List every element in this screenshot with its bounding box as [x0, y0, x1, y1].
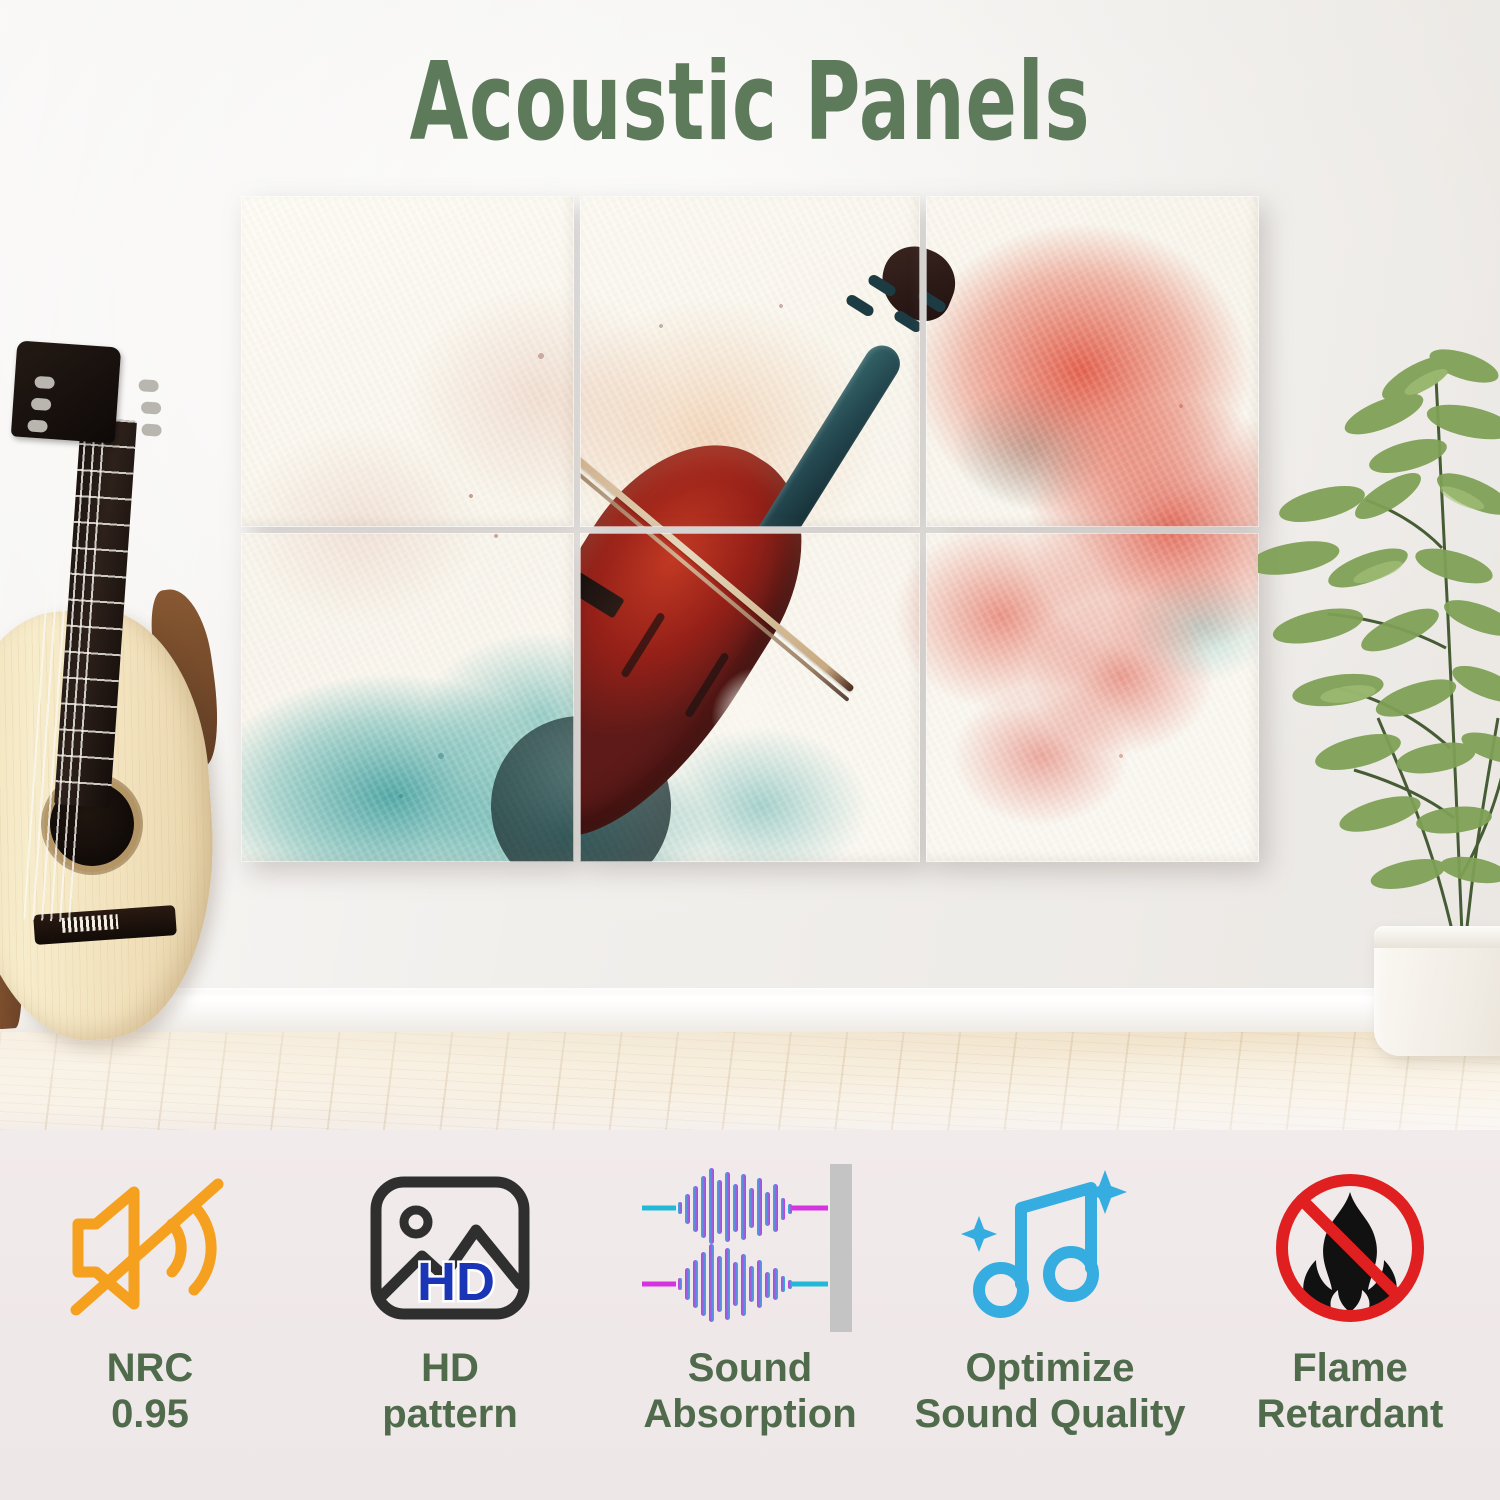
canvas-panel	[926, 196, 1259, 527]
feature-bar: NRC 0.95 HD HD pattern	[0, 1130, 1500, 1500]
tuning-peg	[138, 379, 159, 392]
music-note-sparkle-icon	[955, 1164, 1145, 1332]
feature-item-hd-pattern: HD HD pattern	[300, 1130, 600, 1437]
canvas-panel	[241, 533, 574, 862]
canvas-panel-set	[241, 196, 1259, 868]
feature-item-flame-retardant: Flame Retardant	[1200, 1130, 1500, 1437]
sound-absorption-waveform-icon	[640, 1164, 860, 1332]
feature-label: HD pattern	[382, 1346, 518, 1437]
hd-badge-text: HD	[417, 1252, 495, 1312]
product-listing-image: Acoustic Panels NRC 0.95	[0, 0, 1500, 1500]
tuning-peg	[27, 419, 48, 432]
feature-label: Sound Absorption	[643, 1346, 856, 1437]
guitar-headstock	[11, 340, 121, 443]
tuning-peg	[141, 423, 162, 436]
feature-label: NRC 0.95	[107, 1346, 194, 1437]
feature-item-optimize-sound: Optimize Sound Quality	[900, 1130, 1200, 1437]
canvas-panel	[580, 196, 920, 527]
tuning-peg	[31, 398, 52, 411]
feature-item-nrc: NRC 0.95	[0, 1130, 300, 1437]
room-scene	[0, 0, 1500, 1130]
tuning-peg	[141, 401, 162, 414]
muted-speaker-icon	[60, 1164, 240, 1332]
feature-label: Optimize Sound Quality	[914, 1346, 1185, 1437]
feature-item-sound-absorption: Sound Absorption	[600, 1130, 900, 1437]
acoustic-guitar	[0, 330, 280, 1100]
canvas-panel	[241, 196, 574, 527]
tuning-peg	[34, 376, 55, 389]
canvas-panel	[580, 533, 920, 862]
no-flame-icon	[1260, 1164, 1440, 1332]
absorber-wall	[830, 1164, 852, 1332]
hd-image-icon: HD	[360, 1164, 540, 1332]
plant-pot	[1374, 926, 1500, 1056]
canvas-panel	[926, 533, 1259, 862]
page-title: Acoustic Panels	[165, 46, 1335, 159]
sparkle-icon	[961, 1216, 997, 1252]
feature-label: Flame Retardant	[1257, 1346, 1444, 1437]
potted-plant	[1258, 318, 1500, 1078]
